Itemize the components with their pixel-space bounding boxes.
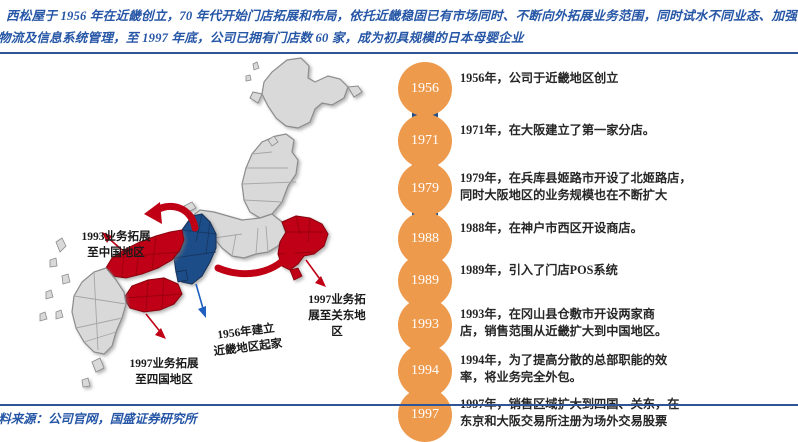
timeline-event-text: 1956年，公司于近畿地区创立 xyxy=(460,70,790,87)
map-islet-kuril xyxy=(246,62,259,81)
arrow-callout-1997-kanto xyxy=(306,260,326,287)
map-callout-1997-kanto: 1997业务拓 展至关东地 区 xyxy=(295,292,379,340)
timeline-year-badge[interactable]: 1979 xyxy=(398,162,452,216)
timeline-event-text: 1979年，在兵库县姬路市开设了北姬路店， 同时大阪地区的业务规模也在不断扩大 xyxy=(460,170,790,204)
timeline-event-text: 1993年，在冈山县仓敷市开设两家商 店，销售范围从近畿扩大到中国地区。 xyxy=(460,306,790,340)
intro-paragraph: 西松屋于 1956 年在近畿创立，70 年代开始门店拓展和布局，依托近畿稳固已有… xyxy=(0,0,798,52)
timeline-event-text: 1988年，在神户市西区开设商店。 xyxy=(460,220,790,237)
map-region-hokkaido xyxy=(250,58,362,128)
map-region-shikoku-expansion xyxy=(124,278,182,312)
map-callout-1993-chugoku: 1993业务拓展 至中国地区 xyxy=(64,229,168,261)
intro-line-2: 物流及信息系统管理，至 1997 年底，公司已拥有门店数 60 家，成为初具规模… xyxy=(0,27,798,49)
timeline-year-badge[interactable]: 1997 xyxy=(398,388,452,442)
timeline-year-badge[interactable]: 1956 xyxy=(398,62,452,116)
map-region-tohoku xyxy=(242,134,298,218)
timeline-event-text: 1989年，引入了门店POS系统 xyxy=(460,262,790,279)
japan-map-panel: 1993业务拓展 至中国地区 1997业务拓 展至关东地 区 1997业务拓展 … xyxy=(10,56,400,401)
source-attribution: 资料来源：公司官网，国盛证券研究所 xyxy=(0,409,197,427)
arrow-callout-1956-origin xyxy=(196,284,206,318)
header-divider xyxy=(0,52,798,54)
intro-line-1: 西松屋于 1956 年在近畿创立，70 年代开始门店拓展和布局，依托近畿稳固已有… xyxy=(6,5,798,27)
timeline-event-text: 1997年，销售区域扩大到四国、关东，在 东京和大阪交易所注册为场外交易股票 xyxy=(460,396,790,430)
company-history-timeline: 19561956年，公司于近畿地区创立19711971年，在大阪建立了第一家分店… xyxy=(398,58,794,403)
timeline-event-text: 1994年，为了提高分散的总部职能的效 率，将业务完全外包。 xyxy=(460,352,790,386)
footer-divider xyxy=(0,404,798,406)
timeline-event-text: 1971年，在大阪建立了第一家分店。 xyxy=(460,122,790,139)
arrow-callout-1997-shikoku xyxy=(146,314,166,339)
timeline-year-badge[interactable]: 1971 xyxy=(398,114,452,168)
